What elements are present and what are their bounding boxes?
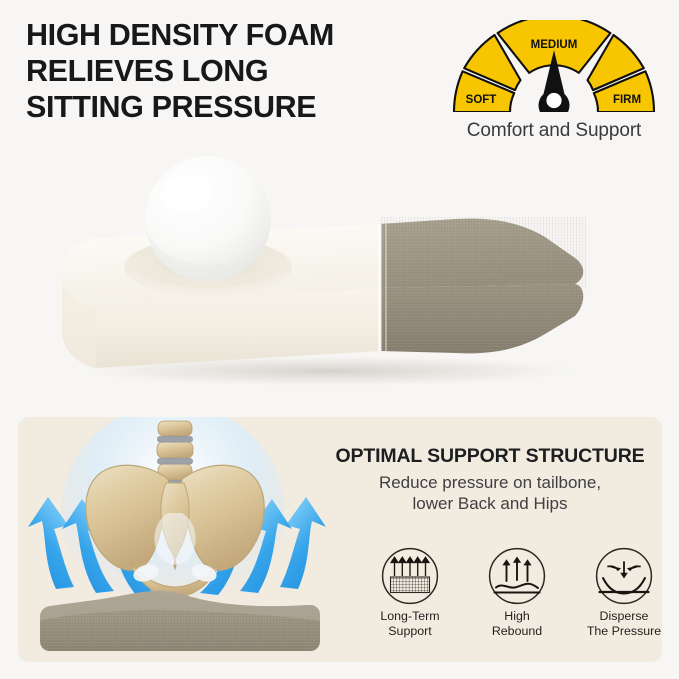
panel-subtitle: Reduce pressure on tailbone, lower Back …: [318, 473, 662, 515]
disperse-pressure-arrows-icon: [595, 547, 653, 605]
feature-label: High Rebound: [469, 609, 565, 639]
wave-rebound-up-arrows-icon: [488, 547, 546, 605]
comfort-gauge: SOFT MEDIUM FIRM Comfort and Support: [434, 20, 674, 142]
mesh-grid-up-arrows-icon: [381, 547, 439, 605]
product-infographic: HIGH DENSITY FOAM RELIEVES LONG SITTING …: [0, 0, 679, 679]
panel-heading-block: OPTIMAL SUPPORT STRUCTURE Reduce pressur…: [318, 445, 662, 515]
product-photo: [0, 136, 679, 398]
feature-high-rebound: High Rebound: [469, 547, 565, 639]
gauge-label-firm: FIRM: [613, 94, 641, 106]
pelvis-cushion-illustration: [18, 417, 336, 662]
panel-title: OPTIMAL SUPPORT STRUCTURE: [318, 445, 662, 468]
feature-icons-row: Long-Term Support High Rebo: [362, 547, 662, 639]
feature-label: Disperse The Pressure: [576, 609, 662, 639]
feature-long-term-support: Long-Term Support: [362, 547, 458, 639]
gauge-dial-icon: SOFT MEDIUM FIRM: [440, 20, 668, 118]
page-title: HIGH DENSITY FOAM RELIEVES LONG SITTING …: [26, 18, 446, 125]
feature-disperse-pressure: Disperse The Pressure: [576, 547, 662, 639]
optimal-support-panel: OPTIMAL SUPPORT STRUCTURE Reduce pressur…: [18, 417, 662, 662]
gauge-label-soft: SOFT: [466, 94, 497, 106]
gauge-label-medium: MEDIUM: [531, 39, 578, 51]
feature-label: Long-Term Support: [362, 609, 458, 639]
